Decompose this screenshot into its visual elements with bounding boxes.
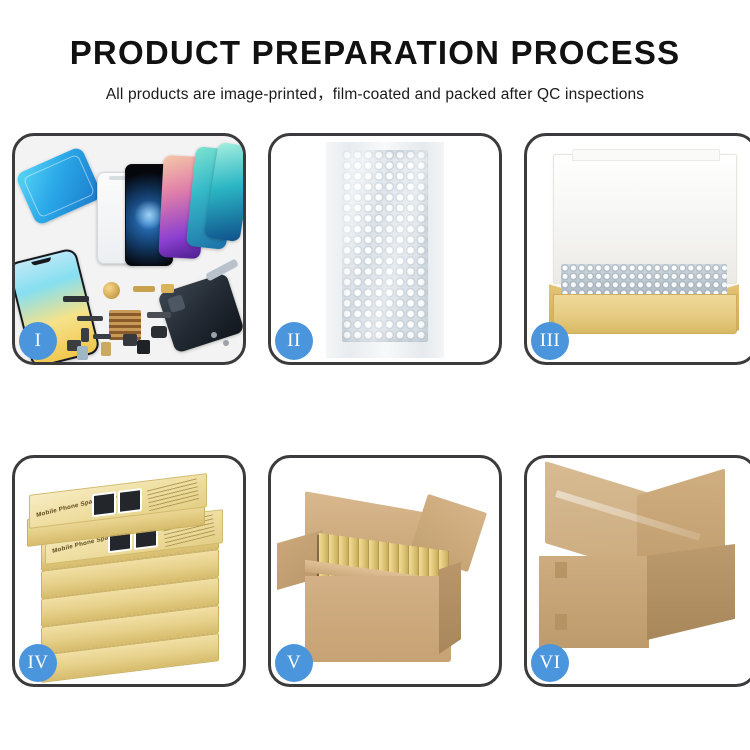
box-phone-graphic-1 <box>92 491 116 517</box>
part-gold-contact <box>101 342 111 356</box>
page-subtitle: All products are image-printed，film-coat… <box>0 82 750 104</box>
product-preparation-infographic: PRODUCT PREPARATION PROCESS All products… <box>0 0 750 750</box>
part-flex-ribbon <box>77 316 103 321</box>
part-connector-strip <box>63 296 89 302</box>
part-vertical-clip <box>81 328 89 342</box>
box-phone-graphic-2 <box>118 488 142 514</box>
step-badge-4: IV <box>19 644 57 682</box>
carton-front-face <box>305 576 451 662</box>
step-badge-5: V <box>275 644 313 682</box>
process-step-grid: I II III <box>12 133 738 687</box>
part-sim-tray <box>77 346 88 360</box>
bubble-wrapped-contents <box>561 264 727 298</box>
part-small-module <box>161 284 174 293</box>
process-step-panel-2: II <box>268 133 502 365</box>
kraft-box-front <box>553 294 737 334</box>
part-wide-cable <box>147 312 171 318</box>
process-step-panel-6: VI <box>524 455 750 687</box>
step-badge-2: II <box>275 322 313 360</box>
process-step-panel-3: III <box>524 133 750 365</box>
part-vibration-motor <box>137 340 150 354</box>
part-gold-coil <box>103 282 120 299</box>
part-ribbon-short <box>93 334 111 339</box>
blue-phone-screen <box>15 146 103 226</box>
step-badge-3: III <box>531 322 569 360</box>
box-spec-lines-1 <box>147 477 199 511</box>
carton-tape-mark-2 <box>555 614 567 630</box>
part-camera-module <box>151 326 167 338</box>
process-step-panel-1: I <box>12 133 246 365</box>
process-step-panel-4: Mobile Phone Spare Parts Mobile Phone Sp… <box>12 455 246 687</box>
retail-box-stack: Mobile Phone Spare Parts Mobile Phone Sp… <box>23 476 239 676</box>
page-title: PRODUCT PREPARATION PROCESS <box>0 36 750 71</box>
process-step-panel-5: V <box>268 455 502 687</box>
part-speaker-unit <box>123 334 137 346</box>
sealed-carton-side <box>647 544 735 640</box>
step-badge-1: I <box>19 322 57 360</box>
header: PRODUCT PREPARATION PROCESS All products… <box>0 0 750 104</box>
part-screw-1 <box>211 332 217 338</box>
carton-tape-mark-1 <box>555 562 567 578</box>
carton-side-face <box>439 562 461 654</box>
plastic-gloss-highlight <box>342 150 428 342</box>
step-badge-6: VI <box>531 644 569 682</box>
part-gold-flex-cable <box>133 286 155 292</box>
part-screw-2 <box>223 340 229 346</box>
